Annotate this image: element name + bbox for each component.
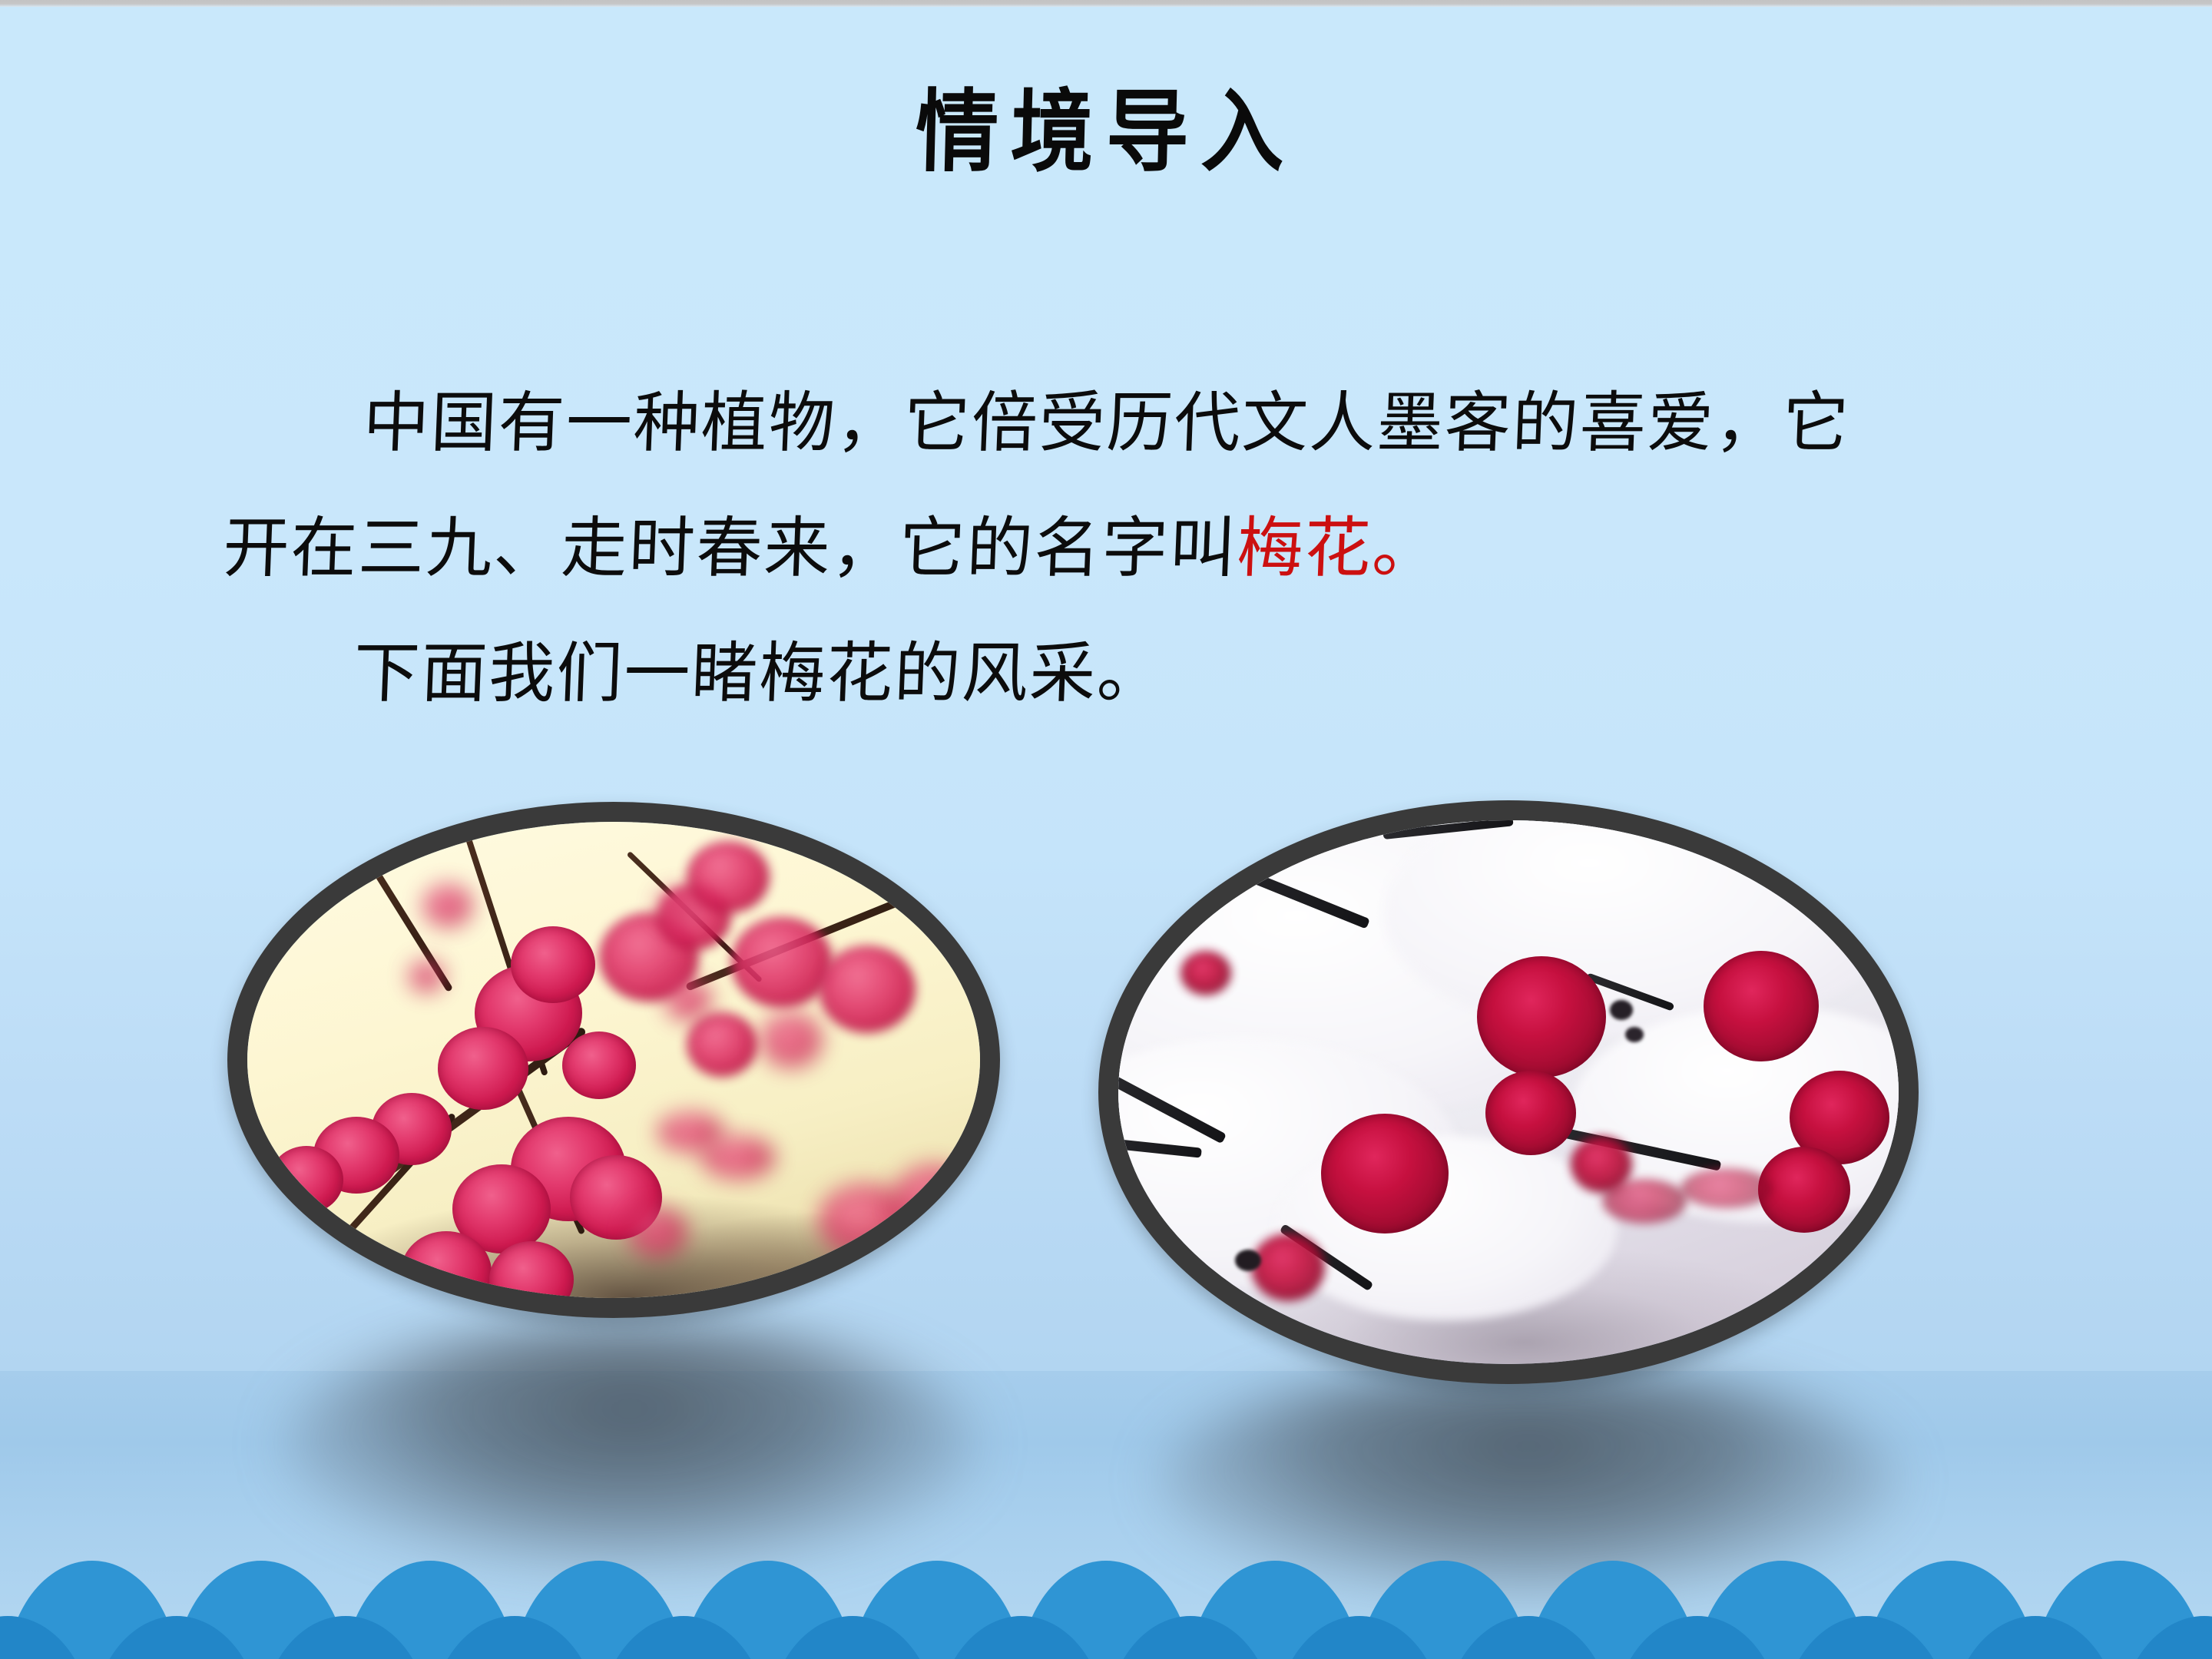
plum-blossom-snow-photo[interactable] <box>1098 800 1919 1384</box>
line-1-text: 中国有一种植物，它倍受历代文人墨客的喜爱，它 <box>362 386 1852 460</box>
line-2-text-red-meihua: 梅花。 <box>1236 512 1442 585</box>
body-line-1: 中国有一种植物，它倍受历代文人墨客的喜爱，它 <box>226 361 2012 486</box>
plum-blossom-snow-photo-image <box>1118 820 1899 1364</box>
decorative-arch-row-front <box>0 1578 2212 1659</box>
line-2-text-black: 开在三九、走时春来，它的名字叫 <box>222 512 1239 585</box>
line-3-text: 下面我们一睹梅花的风采。 <box>353 637 1167 710</box>
slide-title: 情境导入 <box>0 89 2212 179</box>
plum-blossom-warm-photo[interactable] <box>227 802 1000 1318</box>
plum-blossom-warm-photo-image <box>247 822 980 1298</box>
body-line-2: 开在三九、走时春来，它的名字叫梅花。 <box>220 486 2007 611</box>
body-text-block: 中国有一种植物，它倍受历代文人墨客的喜爱，它 开在三九、走时春来，它的名字叫梅花… <box>216 361 2012 737</box>
slide-canvas: 情境导入 中国有一种植物，它倍受历代文人墨客的喜爱，它 开在三九、走时春来，它的… <box>0 0 2212 1659</box>
top-edge-strip <box>0 0 2212 7</box>
body-line-3: 下面我们一睹梅花的风采。 <box>216 611 2002 737</box>
